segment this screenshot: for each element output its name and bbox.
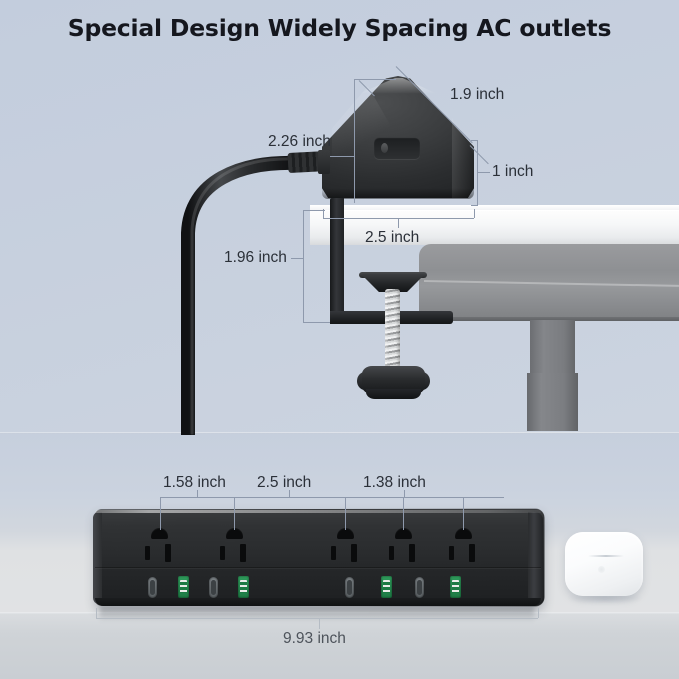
dim-label-1-inch: 1 inch — [492, 163, 533, 181]
ac-outlet-2[interactable] — [211, 528, 257, 572]
dim-drop-outlet-4 — [403, 497, 404, 530]
usb-a-port-3[interactable] — [381, 576, 392, 598]
dim-label-2-26: 2.26 inch — [268, 133, 331, 151]
dim-line-9-93 — [96, 618, 538, 619]
dim-guide-1-9-top — [354, 79, 396, 80]
outlet-slot-right — [351, 544, 357, 562]
dim-label-1-58: 1.58 inch — [163, 474, 226, 492]
earbuds-case-led-icon — [598, 566, 605, 573]
clamp-screw-spring — [385, 289, 400, 372]
desk-leg-lower — [527, 373, 578, 431]
outlet-slot-right — [469, 544, 475, 562]
dim-label-1-38: 1.38 inch — [363, 474, 426, 492]
clamp-thumbscrew-base — [366, 389, 421, 399]
power-strip-bottom-edge — [95, 598, 541, 606]
dim-label-2-5-top: 2.5 inch — [365, 229, 419, 247]
outlet-slot-left — [220, 546, 225, 560]
dim-label-1-9: 1.9 inch — [450, 86, 504, 104]
dim-cap-1-inch-bottom — [471, 205, 478, 206]
usb-a-port-2[interactable] — [238, 576, 249, 598]
usb-a-port-1[interactable] — [178, 576, 189, 598]
desk-leg-upper — [530, 320, 575, 375]
dim-guide-clamp-left — [354, 79, 355, 203]
ac-outlet-4[interactable] — [380, 528, 426, 572]
dim-ext-9-93-left — [96, 608, 97, 618]
earbuds-case-lid-seam — [588, 555, 624, 557]
usb-c-port-4[interactable] — [415, 577, 424, 598]
outlet-slot-right — [165, 544, 171, 562]
dim-label-1-96: 1.96 inch — [224, 249, 287, 267]
dim-leader-2-26 — [330, 156, 354, 157]
clamp-bracket-vertical — [330, 198, 344, 324]
outlet-slot-left — [449, 546, 454, 560]
outlet-slot-left — [389, 546, 394, 560]
ac-outlet-1[interactable] — [136, 528, 182, 572]
power-switch-indicator-icon — [381, 143, 388, 153]
dim-leader-2-5-top — [398, 218, 399, 228]
dim-line-1-inch — [477, 140, 478, 206]
dim-leader-1-inch — [477, 172, 490, 173]
usb-c-port-2[interactable] — [209, 577, 218, 598]
ac-outlet-3[interactable] — [322, 528, 368, 572]
usb-c-port-3[interactable] — [345, 577, 354, 598]
dim-drop-outlet-2 — [234, 497, 235, 530]
dim-leader-9-93 — [319, 618, 320, 629]
power-strip-right-cap — [528, 512, 543, 604]
dim-label-9-93: 9.93 inch — [283, 630, 346, 648]
outlet-slot-left — [145, 546, 150, 560]
dim-drop-outlet-3 — [345, 497, 346, 530]
dim-ext-9-93-right — [538, 608, 539, 618]
dim-cap-1-inch-top — [471, 140, 478, 141]
power-strip-top-highlight — [95, 510, 541, 513]
power-strip-reflection — [100, 606, 534, 622]
clamp-head-bottom-shadow — [322, 188, 474, 199]
dim-cap-1-96-top — [303, 210, 325, 211]
earbuds-charging-case — [565, 532, 643, 596]
dim-cap-1-96-bottom — [303, 322, 330, 323]
cable-strain-relief-cap — [318, 150, 330, 174]
dim-line-1-96 — [303, 210, 304, 323]
dim-label-2-5-bottom: 2.5 inch — [257, 474, 311, 492]
usb-c-port-1[interactable] — [148, 577, 157, 598]
outlet-slot-right — [240, 544, 246, 562]
page-title: Special Design Widely Spacing AC outlets — [0, 14, 679, 42]
dim-ext-2-5-right — [474, 209, 475, 218]
dim-drop-outlet-1 — [160, 497, 161, 530]
dim-rail-right — [291, 497, 504, 498]
outlet-slot-right — [409, 544, 415, 562]
scene-divider — [0, 432, 679, 434]
dim-drop-outlet-5 — [463, 497, 464, 530]
usb-a-port-4[interactable] — [450, 576, 461, 598]
power-strip-left-cap — [93, 512, 102, 604]
ac-outlet-5[interactable] — [440, 528, 486, 572]
dim-leader-1-96 — [291, 258, 303, 259]
outlet-slot-left — [331, 546, 336, 560]
product-infographic: Special Design Widely Spacing AC outlets — [0, 0, 679, 679]
